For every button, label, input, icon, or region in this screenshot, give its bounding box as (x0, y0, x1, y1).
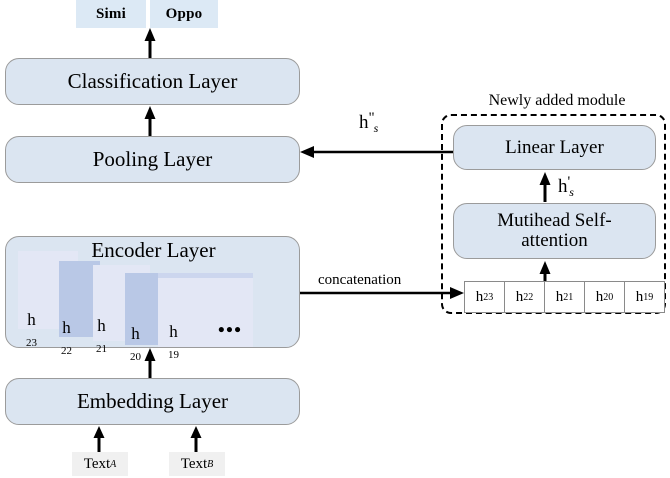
module-cell-h20-base: h (596, 289, 604, 306)
arrow-text-b-to-embedding (189, 426, 203, 452)
module-cell-h21-sub: 21 (563, 292, 573, 303)
encoder-hidden-h23-base: h (26, 311, 37, 329)
module-cell-h23-base: h (476, 289, 484, 306)
module-title: Newly added module (444, 92, 670, 110)
output-chip-oppo-label: Oppo (166, 6, 203, 23)
diagram-canvas: Simi Oppo Classification Layer Pooling L… (0, 0, 670, 478)
encoder-hidden-h22: h22 (61, 319, 72, 357)
arrow-linear-to-pooling (300, 144, 457, 160)
module-cell-h19: h19 (624, 281, 665, 313)
output-chip-simi: Simi (76, 0, 146, 28)
module-cell-h21: h21 (544, 281, 585, 313)
input-chip-text-a-sub: A (110, 459, 116, 470)
module-hidden-cells: h23 h22 h21 h20 h19 (464, 281, 665, 313)
input-chip-text-b-sub: B (207, 459, 213, 470)
arrow-embedding-to-encoder (143, 348, 157, 378)
encoder-hidden-h20-sub: 20 (130, 351, 141, 363)
linear-layer-label: Linear Layer (505, 138, 604, 158)
module-cell-h22-sub: 22 (523, 292, 533, 303)
module-cell-h20-sub: 20 (603, 292, 613, 303)
module-cell-h19-sub: 19 (643, 292, 653, 303)
input-chip-text-a: TextA (72, 452, 128, 476)
output-chip-oppo: Oppo (150, 0, 218, 28)
edge-label-h-single-prime-sub: s (569, 185, 574, 199)
module-cell-h23-sub: 23 (483, 292, 493, 303)
arrow-multihead-to-linear (538, 172, 552, 202)
edge-label-h-double-prime-sub: s (374, 121, 379, 135)
encoder-hidden-h23: h23 (26, 311, 37, 349)
module-cell-h19-base: h (636, 289, 644, 306)
pooling-layer-label: Pooling Layer (93, 148, 213, 170)
linear-layer-box: Linear Layer (453, 125, 656, 170)
module-cell-h21-base: h (556, 289, 564, 306)
edge-label-h-single-prime-base: h (558, 176, 568, 197)
pooling-layer-box: Pooling Layer (5, 136, 300, 183)
encoder-hidden-h20-base: h (130, 325, 141, 343)
edge-label-h-double-prime: h"s (359, 110, 378, 136)
module-cell-h20: h20 (584, 281, 625, 313)
encoder-hidden-h22-sub: 22 (61, 345, 72, 357)
embedding-layer-box: Embedding Layer (5, 378, 300, 425)
encoder-hidden-h21-base: h (96, 317, 107, 335)
arrow-text-a-to-embedding (92, 426, 106, 452)
encoder-hidden-h22-base: h (61, 319, 72, 337)
embedding-layer-label: Embedding Layer (77, 390, 228, 412)
encoder-layer-box: Encoder Layer h23 h22 h21 h20 h19 ••• (5, 236, 300, 348)
output-chip-simi-label: Simi (96, 6, 126, 23)
input-chip-text-a-base: Text (84, 456, 110, 473)
edge-label-concatenation: concatenation (318, 272, 401, 289)
encoder-ellipsis: ••• (218, 321, 242, 341)
classification-layer-label: Classification Layer (68, 70, 238, 92)
edge-label-h-single-prime: h's (558, 174, 574, 200)
multihead-self-attention-box: Mutihead Self- attention (453, 203, 656, 259)
encoder-sheet-6 (158, 273, 253, 278)
encoder-layer-label: Encoder Layer (6, 239, 301, 261)
input-chip-text-b: TextB (169, 452, 225, 476)
encoder-hidden-h19: h19 (168, 323, 179, 361)
encoder-hidden-h23-sub: 23 (26, 337, 37, 349)
arrow-pooling-to-classification (143, 106, 157, 136)
encoder-hidden-h21-sub: 21 (96, 343, 107, 355)
encoder-hidden-h19-base: h (168, 323, 179, 341)
encoder-hidden-h20: h20 (130, 325, 141, 363)
classification-layer-box: Classification Layer (5, 58, 300, 105)
arrow-classification-to-output (143, 28, 157, 58)
multihead-self-attention-label-line2: attention (521, 231, 587, 251)
multihead-self-attention-label-line1: Mutihead Self- (497, 211, 612, 231)
edge-label-h-double-prime-base: h (359, 112, 369, 133)
module-cell-h22: h22 (504, 281, 545, 313)
encoder-hidden-h19-sub: 19 (168, 349, 179, 361)
encoder-hidden-h21: h21 (96, 317, 107, 355)
module-cell-h22-base: h (516, 289, 524, 306)
input-chip-text-b-base: Text (181, 456, 207, 473)
module-cell-h23: h23 (464, 281, 505, 313)
